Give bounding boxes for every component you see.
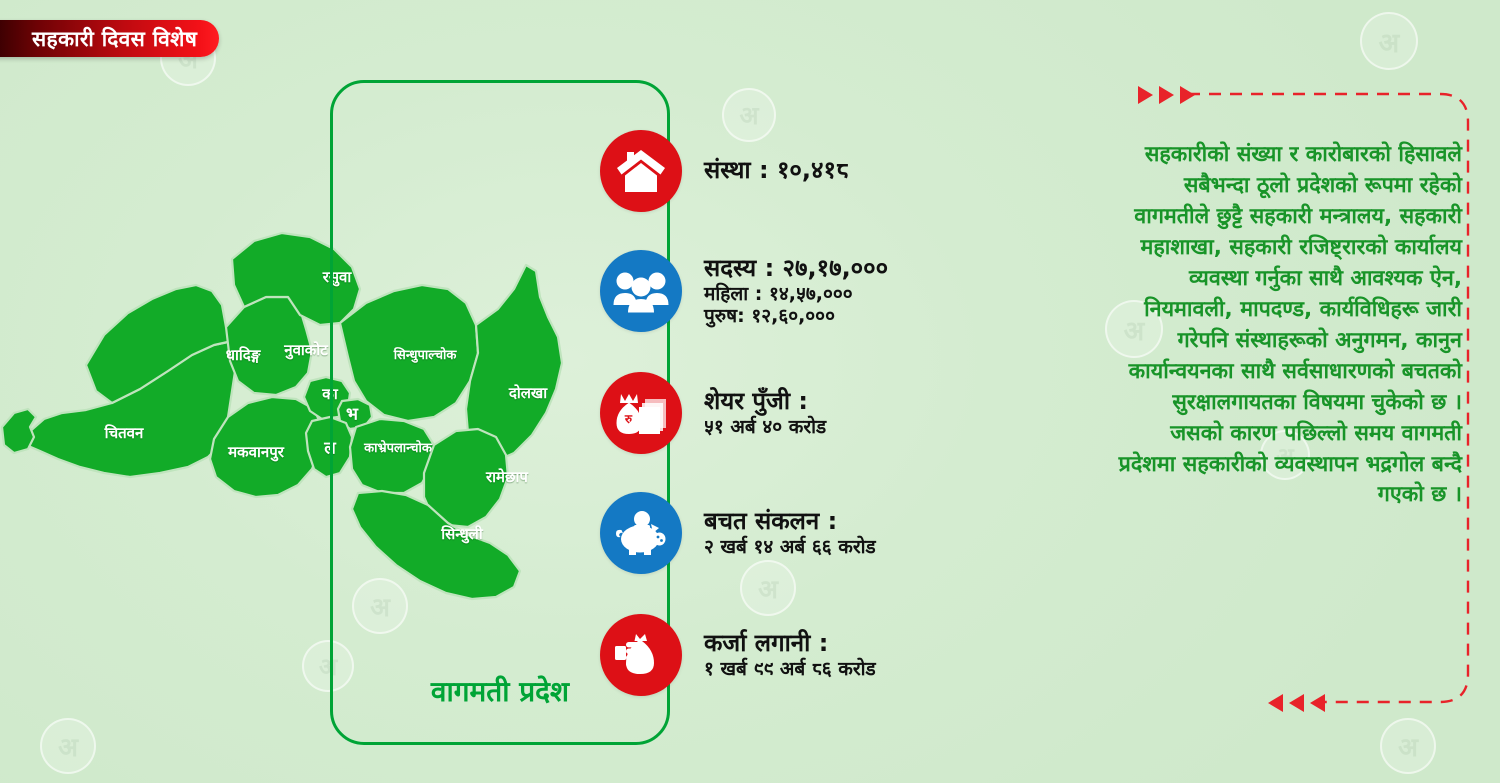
stat-text: बचत संकलन :२ खर्ब १४ अर्ब ६६ करोड (704, 508, 876, 558)
stat-sub-label: १ खर्ब ९९ अर्ब ८६ करोड (704, 658, 876, 680)
arrows-top (1138, 86, 1195, 104)
stat-text: कर्जा लगानी :१ खर्ब ९९ अर्ब ८६ करोड (704, 630, 876, 680)
stat-icon-savings-piggy-icon (600, 492, 682, 574)
watermark-logo-icon: अ (40, 718, 96, 774)
triangle-right-icon (1159, 86, 1174, 104)
stat-sub-label: ५१ अर्ब ४० करोड (704, 416, 826, 438)
savings-piggy-icon (614, 510, 668, 556)
header-badge: सहकारी दिवस विशेष (0, 20, 219, 57)
triangle-left-icon (1310, 694, 1325, 712)
stat-sub-label: पुरुष: १२,६०,००० (704, 305, 888, 327)
stat-icon-share-capital-icon: रु (600, 372, 682, 454)
triangle-left-icon (1268, 694, 1283, 712)
watermark-glyph: अ (58, 728, 78, 764)
stat-sub-label: महिला : १४,५७,००० (704, 283, 888, 305)
stat-sub-label: २ खर्ब १४ अर्ब ६६ करोड (704, 536, 876, 558)
triangle-right-icon (1138, 86, 1153, 104)
watermark-glyph: अ (1379, 23, 1400, 60)
stat-icon-loan-investment-icon (600, 614, 682, 696)
stat-main-label: कर्जा लगानी : (704, 630, 876, 658)
stat-icon-home-icon (600, 130, 682, 212)
home-icon (616, 148, 666, 194)
stat-row: कर्जा लगानी :१ खर्ब ९९ अर्ब ८६ करोड (600, 614, 876, 696)
editorial-panel: सहकारीको संख्या र कारोबारको हिसावले सबैभ… (1110, 92, 1470, 704)
watermark-glyph: अ (1398, 728, 1418, 764)
stat-row: सदस्य : २७,१७,०००महिला : १४,५७,०००पुरुष:… (600, 250, 888, 332)
stat-main-label: सदस्य : २७,१७,००० (704, 255, 888, 283)
infographic-canvas: अअअअअअअअअअ सहकारी दिवस विशेष (0, 0, 1500, 783)
share-capital-icon: रु (613, 390, 669, 436)
triangle-left-icon (1289, 694, 1304, 712)
svg-text:रु: रु (624, 412, 633, 426)
stat-text: सदस्य : २७,१७,०००महिला : १४,५७,०००पुरुष:… (704, 255, 888, 327)
stat-row: संस्था : १०,४१८ (600, 130, 848, 212)
editorial-paragraph: सहकारीको संख्या र कारोबारको हिसावले सबैभ… (1118, 140, 1462, 511)
triangle-right-icon (1180, 86, 1195, 104)
watermark-logo-icon: अ (1380, 718, 1436, 774)
stat-text: शेयर पुँजी :५१ अर्ब ४० करोड (704, 388, 826, 438)
members-icon (613, 269, 669, 313)
stat-main-label: बचत संकलन : (704, 508, 876, 536)
arrows-bottom (1268, 694, 1325, 712)
loan-investment-icon (614, 632, 668, 678)
stat-main-label: शेयर पुँजी : (704, 388, 826, 416)
stat-main-label: संस्था : १०,४१८ (704, 157, 848, 185)
stat-row: बचत संकलन :२ खर्ब १४ अर्ब ६६ करोड (600, 492, 876, 574)
statistics-list: संस्था : १०,४१८ सदस्य : २७,१७,०००महिला :… (600, 110, 1080, 710)
stat-row: रु शेयर पुँजी :५१ अर्ब ४० करोड (600, 372, 826, 454)
stat-icon-members-icon (600, 250, 682, 332)
stat-text: संस्था : १०,४१८ (704, 157, 848, 185)
watermark-logo-icon: अ (1360, 12, 1418, 70)
